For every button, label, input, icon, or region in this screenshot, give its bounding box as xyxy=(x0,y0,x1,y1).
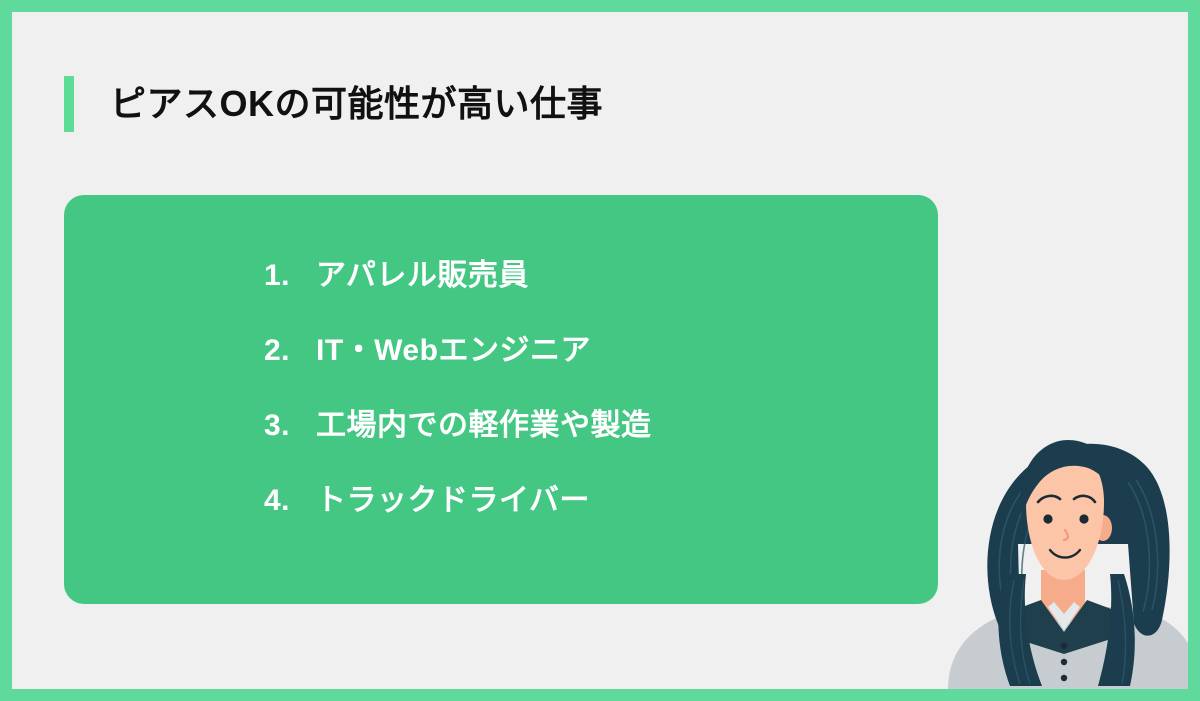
list-item-label: トラックドライバー xyxy=(316,475,590,519)
list-item: 2. IT・Webエンジニア xyxy=(264,325,652,400)
list-item-label: 工場内での軽作業や製造 xyxy=(316,400,652,444)
list-item: 4. トラックドライバー xyxy=(264,475,652,550)
shirt-button xyxy=(1061,659,1067,665)
shirt-button xyxy=(1061,675,1067,681)
list-item-number: 3. xyxy=(264,409,316,443)
list-item-number: 1. xyxy=(264,259,316,293)
list-item: 1. アパレル販売員 xyxy=(264,250,652,325)
list-item: 3. 工場内での軽作業や製造 xyxy=(264,400,652,475)
list-item-label: IT・Webエンジニア xyxy=(316,325,591,369)
page-title: ピアスOKの可能性が高い仕事 xyxy=(110,86,603,122)
job-list-card: 1. アパレル販売員 2. IT・Webエンジニア 3. 工場内での軽作業や製造… xyxy=(64,195,938,604)
list-item-number: 2. xyxy=(264,334,316,368)
title-accent-bar xyxy=(64,76,74,132)
eye-right xyxy=(1079,514,1088,523)
shirt-button xyxy=(1061,643,1067,649)
page-title-row: ピアスOKの可能性が高い仕事 xyxy=(64,75,603,133)
eye-left xyxy=(1043,514,1052,523)
job-list: 1. アパレル販売員 2. IT・Webエンジニア 3. 工場内での軽作業や製造… xyxy=(264,250,652,550)
list-item-label: アパレル販売員 xyxy=(316,250,529,294)
slide-canvas: ピアスOKの可能性が高い仕事 1. アパレル販売員 2. IT・Webエンジニア… xyxy=(12,12,1188,689)
list-item-number: 4. xyxy=(264,484,316,518)
smiling-woman-illustration xyxy=(938,424,1188,689)
slide-root: ピアスOKの可能性が高い仕事 1. アパレル販売員 2. IT・Webエンジニア… xyxy=(0,0,1200,701)
woman-avatar-graphic xyxy=(938,424,1188,689)
